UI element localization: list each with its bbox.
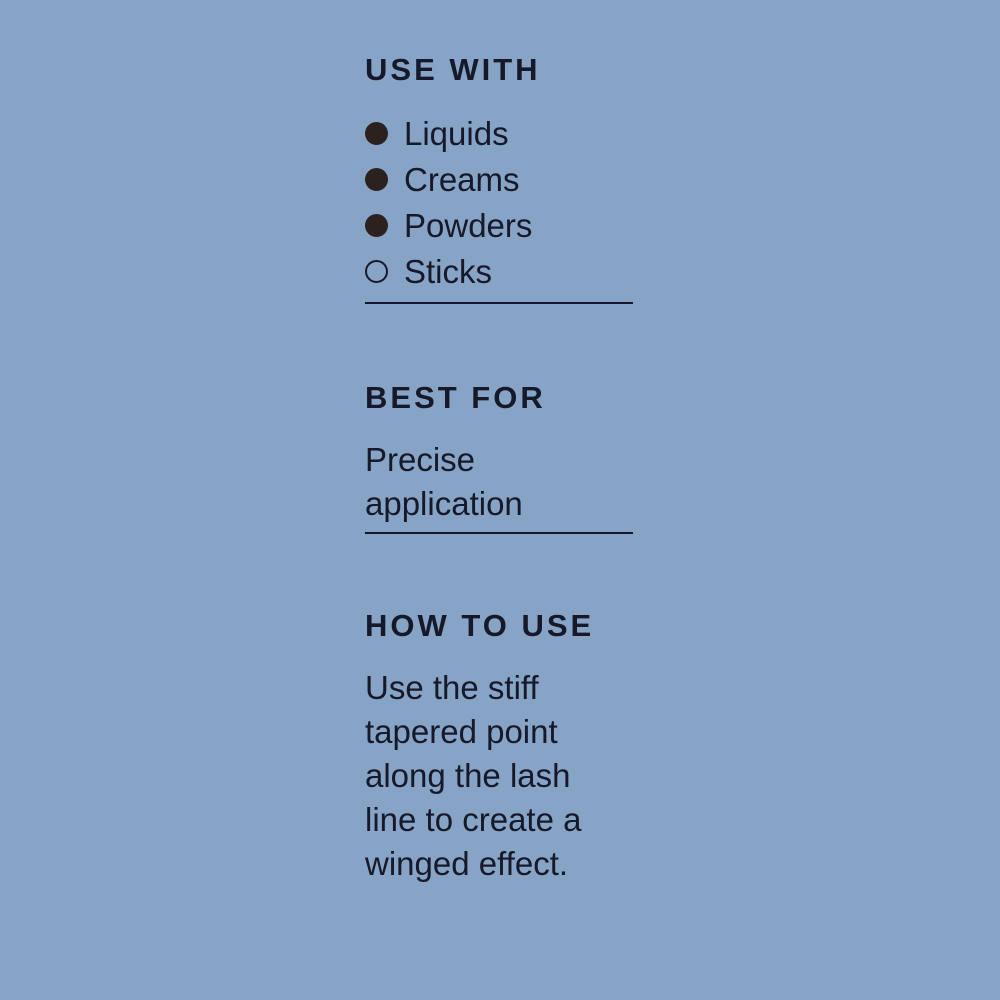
use-with-item-label: Liquids [404,117,509,150]
how-to-use-heading: HOW TO USE [365,610,594,641]
use-with-list: Liquids Creams Powders Sticks [365,110,541,294]
use-with-item-label: Sticks [404,255,492,288]
filled-circle-icon [365,214,388,237]
best-for-section: BEST FOR Precise application [365,356,546,559]
section-divider [365,302,633,304]
use-with-heading: USE WITH [365,54,541,85]
list-item: Liquids [365,110,541,156]
filled-circle-icon [365,122,388,145]
use-with-item-label: Powders [404,209,532,242]
list-item: Sticks [365,248,541,294]
use-with-section: USE WITH Liquids Creams Powders Sticks [365,28,541,294]
how-to-use-body-text: Use the stiff tapered point along the la… [365,666,594,886]
hollow-circle-icon [365,260,388,283]
filled-circle-icon [365,168,388,191]
best-for-heading: BEST FOR [365,382,546,413]
how-to-use-section: HOW TO USE Use the stiff tapered point a… [365,584,594,919]
section-divider [365,532,633,534]
content-column: USE WITH Liquids Creams Powders Sticks [365,0,665,1000]
product-info-card: USE WITH Liquids Creams Powders Sticks [0,0,1000,1000]
list-item: Powders [365,202,541,248]
use-with-item-label: Creams [404,163,520,196]
best-for-body-text: Precise application [365,438,546,526]
list-item: Creams [365,156,541,202]
